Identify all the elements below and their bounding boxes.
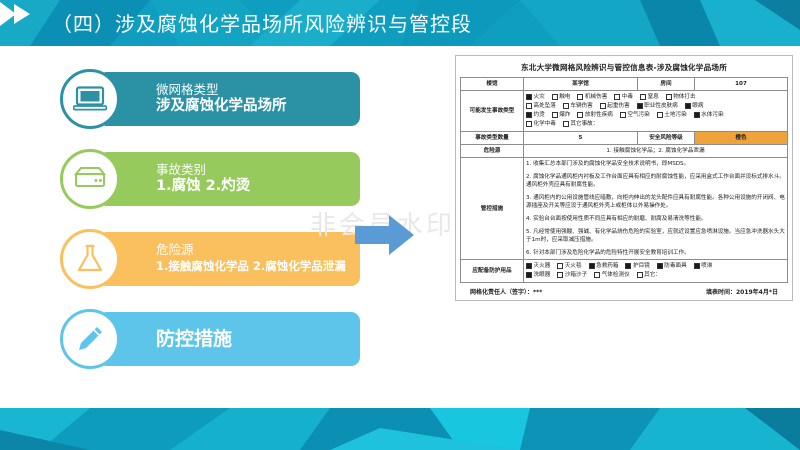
card-accident-category[interactable]: 事故类别 1.腐蚀 2.灼烫 [60,152,360,206]
checkbox-empty-icon[interactable] [552,112,558,118]
checkbox-label: 其它事故： [570,121,598,127]
building-value: 某学馆 [524,78,638,91]
checkbox-empty-icon[interactable] [614,94,620,100]
checkbox-label: 其它： [644,272,661,278]
checkbox-checked-icon[interactable] [526,112,532,118]
control-measures-label: 管控措施 [461,158,524,260]
checkbox-item[interactable]: 灭火毯 [557,262,581,271]
checkbox-item[interactable]: 车辆伤害 [563,102,593,111]
checkbox-line: 火灾触电机械伤害中毒窒息物体打击 [526,93,785,102]
checkbox-label: 物体打击 [673,94,695,100]
bottom-banner [0,408,800,450]
checkbox-empty-icon[interactable] [526,103,532,109]
checkbox-checked-icon[interactable] [685,103,691,109]
server-box-icon [73,166,107,192]
card-body: 微网格类型 涉及腐蚀化学品场所 [98,72,360,126]
card-control-measures[interactable]: 防控措施 [60,312,360,366]
table-footer: 网格化责任人（签字）：*** 填表时间：2019年4月*日 [460,283,788,298]
checkbox-item[interactable]: 窒息 [640,93,659,102]
checkbox-checked-icon[interactable] [526,272,532,278]
checkbox-label: 触电 [559,94,570,100]
checkbox-item[interactable]: 气体检测仪 [594,271,629,280]
checkbox-empty-icon[interactable] [563,103,569,109]
checkbox-item[interactable]: 机械伤害 [577,93,607,102]
checkbox-label: 土地污染 [664,112,686,118]
checkbox-label: 火灾 [534,94,545,100]
signature-label: 网格化责任人（签字）：*** [470,287,542,296]
checkbox-label: 水体污染 [701,112,723,118]
checkbox-label: 洗眼器 [534,272,551,278]
pencil-icon [75,324,105,354]
checkbox-label: 急救药箱 [596,263,618,269]
checkbox-empty-icon[interactable] [577,112,583,118]
checkbox-label: 灭火毯 [565,263,582,269]
measure-item: 5. 凡经常使用强酸、强碱、有化学品烧伤危险的实验室，应就近设置应急喷淋设施。当… [526,228,785,244]
checkbox-line: 灭火器灭火毯急救药箱护目镜防毒面具喷淋 [526,262,785,271]
checkbox-label: 起重伤害 [607,103,629,109]
building-label: 楼馆 [461,78,524,91]
checkbox-label: 机械伤害 [585,94,607,100]
checkbox-label: 喷淋 [701,263,712,269]
ppe-label: 应配备防护用品 [461,260,524,283]
checkbox-item[interactable]: 眼病 [685,102,704,111]
accident-type-checkboxes[interactable]: 火灾触电机械伤害中毒窒息物体打击高处坠落车辆伤害起重伤害职业性皮肤病眼病灼烫爆炸… [524,91,788,132]
card-value: 1.腐蚀 2.灼烫 [156,178,360,195]
card-subtitle: 微网格类型 [156,83,360,97]
measure-item: 3. 通风柜内的公用设施管线应暗敷，向柜内伸出的龙头配件应具有耐腐性能。各种公用… [526,194,785,210]
checkbox-checked-icon[interactable] [526,94,532,100]
checkbox-empty-icon[interactable] [594,272,600,278]
measure-item: 4. 实验台台面按使用性质不同应具有相应的耐磨、耐腐及易清洗等性能。 [526,215,785,223]
accident-type-label: 可能发生事故类型 [461,91,524,132]
bottom-polygon-pattern [0,408,800,450]
table-row: 楼馆 某学馆 房间 107 [461,78,788,91]
card-body: 防控措施 [98,312,360,366]
checkbox-label: 灭火器 [534,263,551,269]
checkbox-empty-icon[interactable] [666,94,672,100]
checkbox-empty-icon[interactable] [552,94,558,100]
room-label: 房间 [638,78,695,91]
fill-date-label: 填表时间：2019年4月*日 [706,287,778,296]
checkbox-checked-icon[interactable] [694,112,700,118]
card-badge [60,149,120,209]
hazard-source-value: 1. 接触腐蚀化学品；2. 腐蚀化学品泄漏 [524,145,788,158]
checkbox-line: 灼烫爆炸放射性疾病空气污染土地污染水体污染 [526,111,785,120]
table-title: 东北大学微网格风险辨识与管控信息表-涉及腐蚀化学品场所 [460,59,788,77]
checkbox-item[interactable]: 其它事故： [563,120,598,129]
page-title: （四）涉及腐蚀化学品场所风险辨识与管控段 [52,8,472,37]
checkbox-item[interactable]: 灭火器 [526,262,550,271]
checkbox-item[interactable]: 沙箱沙子 [557,271,587,280]
checkbox-line: 洗眼器沙箱沙子气体检测仪其它： [526,271,785,280]
top-banner: （四）涉及腐蚀化学品场所风险辨识与管控段 [0,0,800,46]
checkbox-empty-icon[interactable] [557,263,563,269]
risk-level-value: 橙色 [695,132,788,145]
checkbox-item[interactable]: 中毒 [614,93,633,102]
measure-item: 1. 收集汇总本部门涉及的腐蚀化学品安全技术说明书，即MSDS。 [526,160,785,168]
checkbox-item[interactable]: 职业性皮肤病 [637,102,678,111]
checkbox-label: 高处坠落 [534,103,556,109]
checkbox-item[interactable]: 化学中毒 [526,120,556,129]
checkbox-item[interactable]: 触电 [552,93,571,102]
checkbox-checked-icon[interactable] [589,263,595,269]
checkbox-item[interactable]: 其它： [637,271,661,280]
checkbox-checked-icon[interactable] [657,263,663,269]
control-measures-value: 1. 收集汇总本部门涉及的腐蚀化学品安全技术说明书，即MSDS。2. 腐蚀化学品… [524,158,788,260]
card-value: 1.接触腐蚀化学品 2.腐蚀化学品泄漏 [156,258,360,275]
checkbox-item[interactable]: 防毒面具 [657,262,687,271]
measure-item: 6. 针对本部门涉及危险化学品的危险特性开展安全教育培训工作。 [526,249,785,257]
checkbox-label: 眼病 [692,103,703,109]
checkbox-label: 车辆伤害 [570,103,592,109]
card-value: 涉及腐蚀化学品场所 [156,98,360,115]
checkbox-item[interactable]: 护目镜 [625,262,649,271]
checkbox-item[interactable]: 爆炸 [552,111,571,120]
right-arrow-icon [355,212,415,258]
card-badge [60,309,120,369]
checkbox-label: 窒息 [648,94,659,100]
table-row: 管控措施 1. 收集汇总本部门涉及的腐蚀化学品安全技术说明书，即MSDS。2. … [461,158,788,260]
checkbox-label: 气体检测仪 [602,272,630,278]
card-subtitle: 事故类别 [156,163,360,177]
hazard-source-label: 危险源 [461,145,524,158]
checkbox-empty-icon[interactable] [526,121,532,127]
checkbox-label: 化学中毒 [534,121,556,127]
card-microgrid-type[interactable]: 微网格类型 涉及腐蚀化学品场所 [60,72,360,126]
checkbox-item[interactable]: 物体打击 [666,93,696,102]
checkbox-label: 防毒面具 [664,263,686,269]
checkbox-item[interactable]: 高处坠落 [526,102,556,111]
checkbox-checked-icon[interactable] [694,263,700,269]
checkbox-label: 中毒 [622,94,633,100]
checkbox-empty-icon[interactable] [640,94,646,100]
play-double-triangle-icon [0,0,34,28]
checkbox-empty-icon[interactable] [637,272,643,278]
checkbox-empty-icon[interactable] [577,94,583,100]
measure-item: 2. 腐蚀化学品通风柜内衬板及工作台面应具有相应的耐腐蚀性能，应采用盒式工作台面… [526,173,785,189]
laptop-icon [73,86,107,112]
table-row: 可能发生事故类型 火灾触电机械伤害中毒窒息物体打击高处坠落车辆伤害起重伤害职业性… [461,91,788,132]
card-badge [60,69,120,129]
checkbox-item[interactable]: 放射性疾病 [577,111,612,120]
checkbox-empty-icon[interactable] [563,121,569,127]
checkbox-item[interactable]: 火灾 [526,93,545,102]
checkbox-item[interactable]: 土地污染 [657,111,687,120]
risk-information-table: 东北大学微网格风险辨识与管控信息表-涉及腐蚀化学品场所 楼馆 某学馆 房间 10… [455,55,793,301]
checkbox-empty-icon[interactable] [620,112,626,118]
card-body: 事故类别 1.腐蚀 2.灼烫 [98,152,360,206]
room-value: 107 [695,78,788,91]
checkbox-item[interactable]: 起重伤害 [600,102,630,111]
checkbox-label: 爆炸 [559,112,570,118]
checkbox-empty-icon[interactable] [657,112,663,118]
checkbox-item[interactable]: 灼烫 [526,111,545,120]
checkbox-checked-icon[interactable] [526,263,532,269]
checkbox-checked-icon[interactable] [625,263,631,269]
checkbox-label: 灼烫 [534,112,545,118]
checkbox-empty-icon[interactable] [557,272,563,278]
table-row: 危险源 1. 接触腐蚀化学品；2. 腐蚀化学品泄漏 [461,145,788,158]
flask-icon [75,244,105,274]
checkbox-checked-icon[interactable] [637,103,643,109]
slide-canvas: （四）涉及腐蚀化学品场所风险辨识与管控段 微网格类型 涉及腐蚀化学品场所 事故类… [0,0,800,450]
checkbox-item[interactable]: 喷淋 [694,262,713,271]
checkbox-label: 空气污染 [627,112,649,118]
checkbox-label: 放射性疾病 [585,112,613,118]
table-row: 应配备防护用品 灭火器灭火毯急救药箱护目镜防毒面具喷淋洗眼器沙箱沙子气体检测仪其… [461,260,788,283]
card-subtitle: 危险源 [156,243,360,257]
checkbox-line: 化学中毒其它事故： [526,120,785,129]
checkbox-label: 沙箱沙子 [565,272,587,278]
checkbox-item[interactable]: 急救药箱 [589,262,619,271]
checkbox-line: 高处坠落车辆伤害起重伤害职业性皮肤病眼病 [526,102,785,111]
checkbox-item[interactable]: 空气污染 [620,111,650,120]
card-badge [60,229,120,289]
table-row: 事故类型数量 5 安全风险等级 橙色 [461,132,788,145]
accident-count-value: 5 [524,132,638,145]
ppe-checkboxes[interactable]: 灭火器灭火毯急救药箱护目镜防毒面具喷淋洗眼器沙箱沙子气体检测仪其它： [524,260,788,283]
checkbox-item[interactable]: 洗眼器 [526,271,550,280]
card-value: 防控措施 [156,328,360,350]
accident-count-label: 事故类型数量 [461,132,524,145]
risk-level-label: 安全风险等级 [638,132,695,145]
checkbox-item[interactable]: 水体污染 [694,111,724,120]
checkbox-label: 护目镜 [633,263,650,269]
checkbox-label: 职业性皮肤病 [644,103,678,109]
checkbox-empty-icon[interactable] [600,103,606,109]
